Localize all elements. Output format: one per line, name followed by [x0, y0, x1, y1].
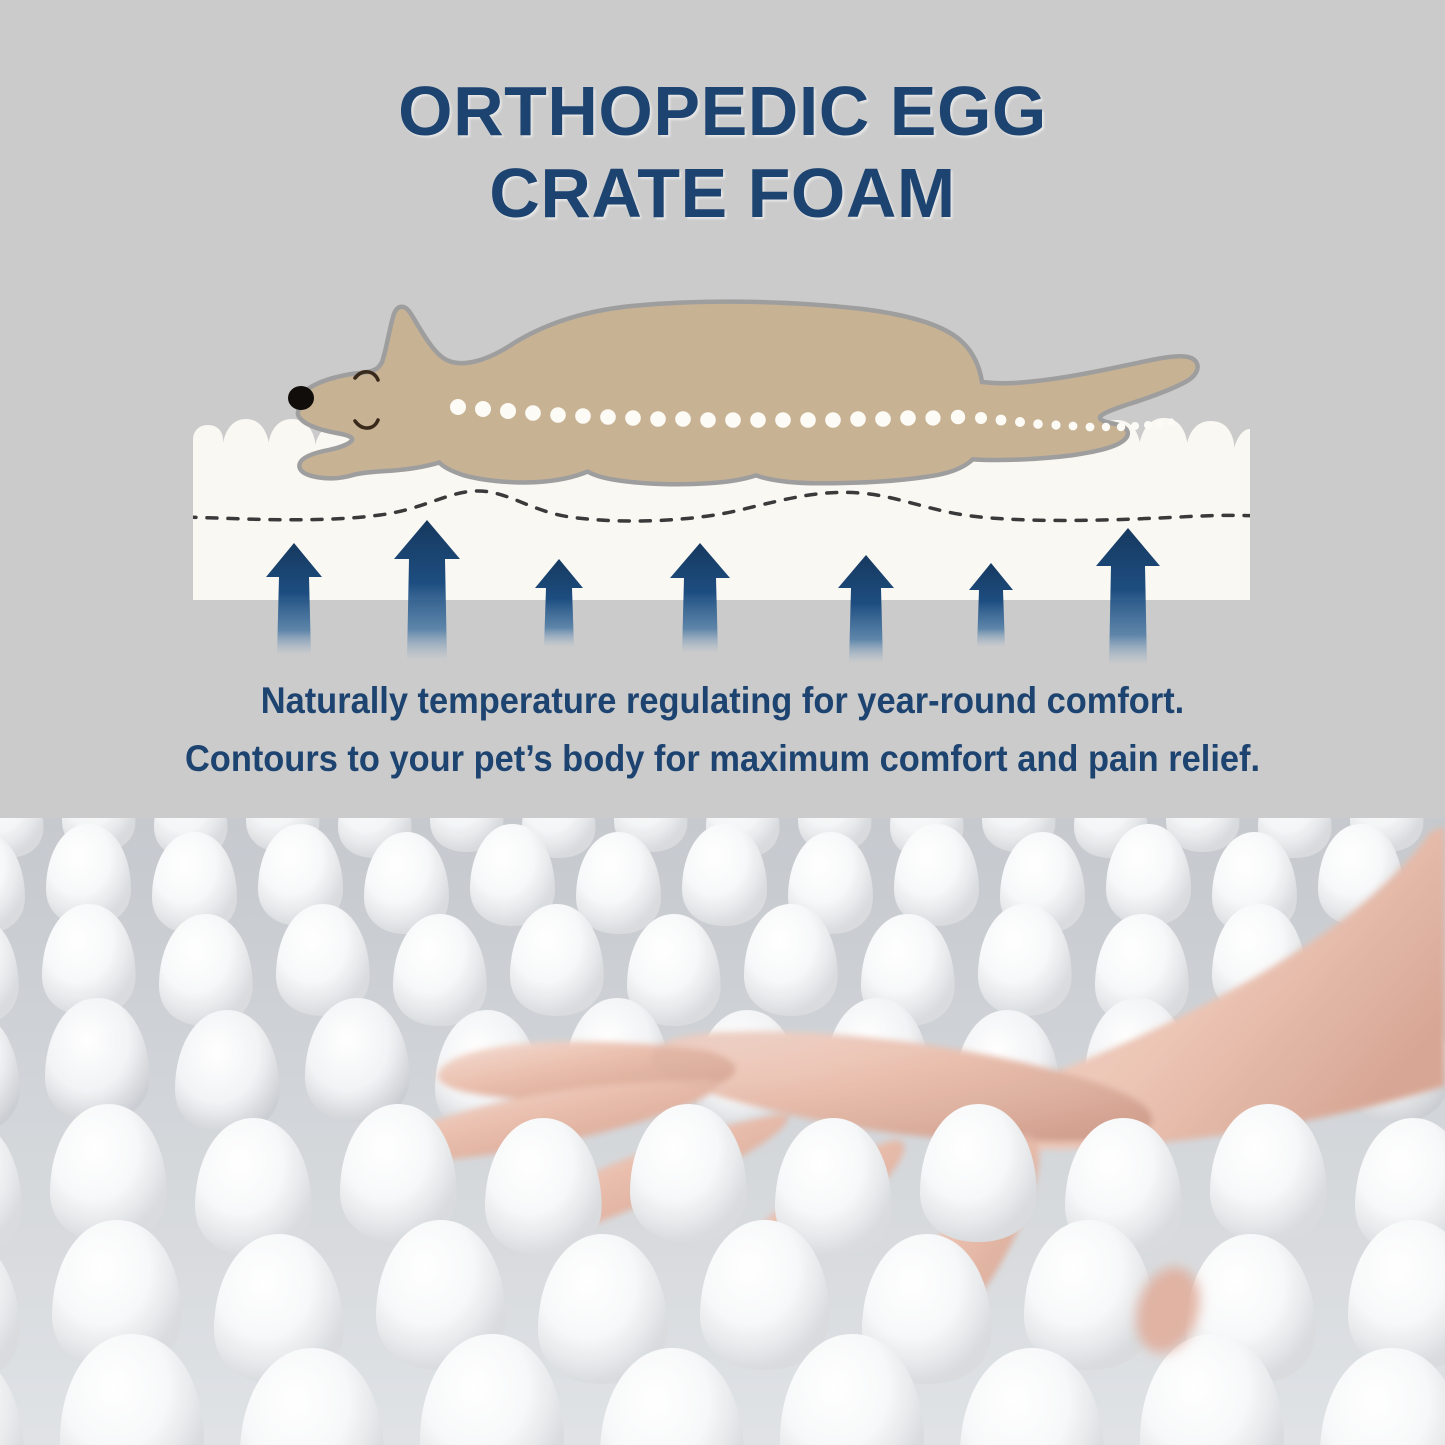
- headline-line-2: CRATE FOAM: [0, 152, 1445, 234]
- dog-nose: [288, 386, 314, 410]
- page-title: ORTHOPEDIC EGG CRATE FOAM: [0, 70, 1445, 234]
- infographic-page: ORTHOPEDIC EGG CRATE FOAM: [0, 0, 1445, 1445]
- sleeping-dog: [288, 304, 1195, 482]
- top-info-panel: ORTHOPEDIC EGG CRATE FOAM: [0, 0, 1445, 818]
- feature-captions: Naturally temperature regulating for yea…: [51, 672, 1395, 788]
- caption-line-2: Contours to your pet’s body for maximum …: [51, 730, 1395, 788]
- foam-photo: [0, 818, 1445, 1445]
- headline-line-1: ORTHOPEDIC EGG: [0, 70, 1445, 152]
- caption-line-1: Naturally temperature regulating for yea…: [51, 672, 1395, 730]
- dog-on-foam-illustration: [0, 285, 1445, 665]
